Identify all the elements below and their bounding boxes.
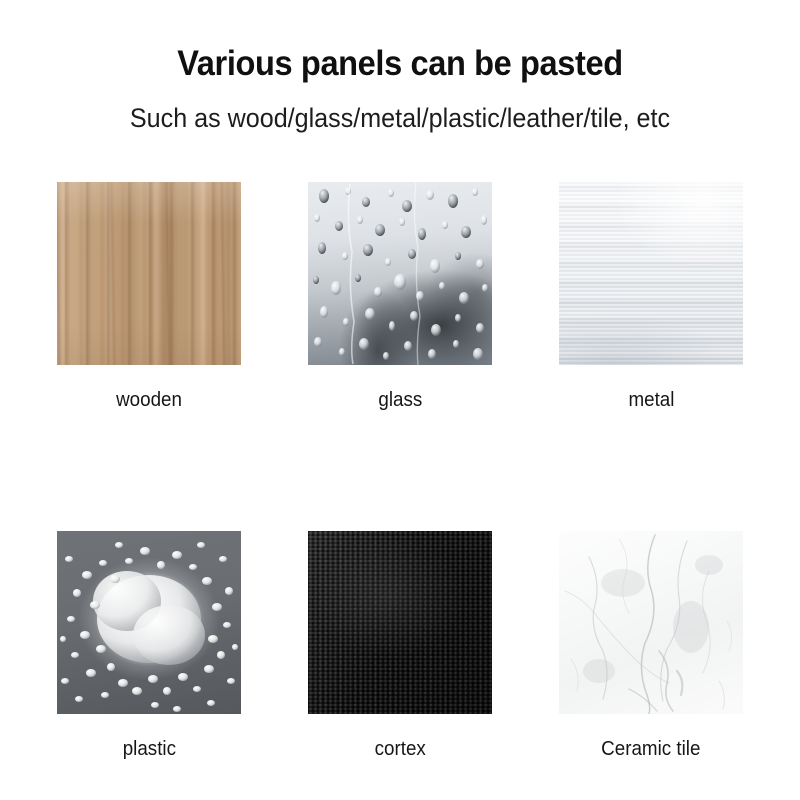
material-label-ceramic-tile: Ceramic tile [601, 736, 700, 762]
material-cell-ceramic-tile: Ceramic tile [559, 531, 743, 762]
wood-grain-fill [57, 182, 241, 365]
material-label-cortex: cortex [374, 736, 425, 762]
plastic-texture-swatch [57, 531, 241, 714]
material-row-1: wooden [57, 182, 743, 413]
brushed-metal-fill [559, 182, 743, 365]
material-cell-glass: glass [308, 182, 492, 413]
material-cell-plastic: plastic [57, 531, 241, 762]
material-cell-cortex: cortex [308, 531, 492, 762]
heading-block: Various panels can be pasted Such as woo… [0, 42, 800, 137]
material-label-metal: metal [628, 387, 674, 413]
material-cell-wooden: wooden [57, 182, 241, 413]
material-grid: wooden [57, 182, 743, 762]
wood-texture-swatch [57, 182, 241, 365]
glass-texture-swatch [308, 182, 492, 365]
page-subtitle: Such as wood/glass/metal/plastic/leather… [28, 86, 772, 137]
leather-grain-fill [308, 531, 492, 714]
material-cell-metal: metal [559, 182, 743, 413]
plastic-granules-icon [57, 531, 241, 714]
page-title: Various panels can be pasted [28, 42, 772, 86]
material-row-2: plastic cortex [57, 531, 743, 762]
leather-texture-swatch [308, 531, 492, 714]
ceramic-tile-texture-swatch [559, 531, 743, 714]
material-label-wooden: wooden [116, 387, 182, 413]
material-label-plastic: plastic [122, 736, 175, 762]
infographic-page: Various panels can be pasted Such as woo… [0, 0, 800, 800]
metal-texture-swatch [559, 182, 743, 365]
material-label-glass: glass [378, 387, 422, 413]
marble-veining-icon [559, 531, 743, 714]
water-droplets-icon [308, 182, 492, 365]
